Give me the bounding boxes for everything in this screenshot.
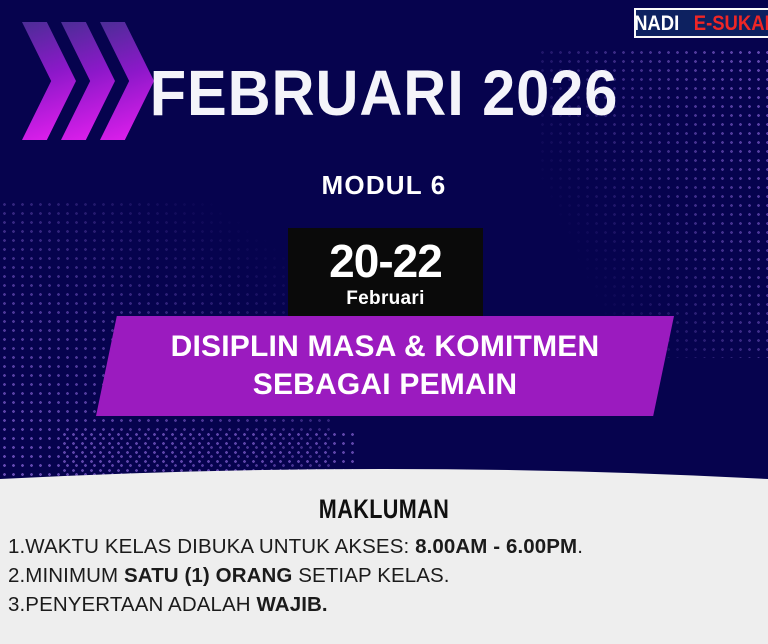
nadi-esukan-logo: NADI E-SUKAN [634,8,768,38]
date-range-text: 20-22 [329,238,442,284]
module-label: MODUL 6 [0,170,768,201]
info-item-highlight: WAJIB. [256,593,327,616]
info-section-title: MAKLUMAN [77,494,691,525]
date-month-text: Februari [346,288,424,310]
info-item-text-tail: SETIAP KELAS. [292,564,449,587]
topic-banner: DISIPLIN MASA & KOMITMEN SEBAGAI PEMAIN [96,316,674,416]
info-item-text: PENYERTAAN ADALAH [25,593,256,616]
info-item-text-tail: . [577,535,583,558]
info-item-text: WAKTU KELAS DIBUKA UNTUK AKSES: [25,535,415,558]
info-item-text: MINIMUM [25,564,124,587]
info-list-item: 3.PENYERTAAN ADALAH WAJIB. [8,590,760,619]
info-list: 1.WAKTU KELAS DIBUKA UNTUK AKSES: 8.00AM… [8,532,760,619]
info-item-highlight: 8.00AM - 6.00PM [415,535,577,558]
topic-line-1: DISIPLIN MASA & KOMITMEN [171,328,600,366]
info-item-number: 2. [8,564,25,587]
info-list-item: 2.MINIMUM SATU (1) ORANG SETIAP KELAS. [8,561,760,590]
info-panel: MAKLUMAN 1.WAKTU KELAS DIBUKA UNTUK AKSE… [0,484,768,644]
info-item-number: 3. [8,593,25,616]
topic-line-2: SEBAGAI PEMAIN [253,366,518,404]
date-badge: 20-22 Februari [288,228,483,320]
logo-text-nadi: NADI [634,13,679,34]
page-title: FEBRUARI 2026 [27,61,741,125]
poster-canvas: NADI E-SUKAN FEBRUARI 2026 MODUL 6 20-22… [0,0,768,644]
info-item-number: 1. [8,535,25,558]
info-item-highlight: SATU (1) ORANG [124,564,292,587]
panel-curve-divider-icon [0,466,768,488]
logo-text-esukan: E-SUKAN [694,13,768,34]
info-list-item: 1.WAKTU KELAS DIBUKA UNTUK AKSES: 8.00AM… [8,532,760,561]
